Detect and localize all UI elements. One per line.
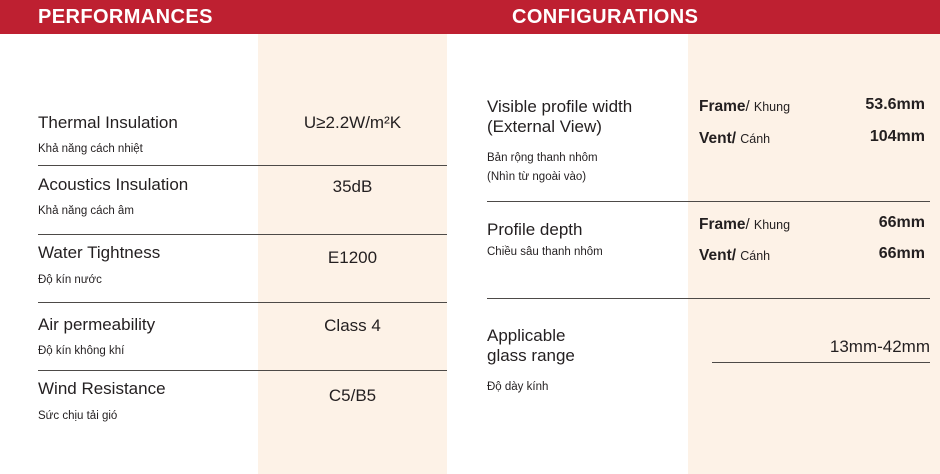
glass-range-value: 13mm-42mm bbox=[710, 337, 930, 357]
spec-sheet: PERFORMANCES CONFIGURATIONS Thermal Insu… bbox=[0, 0, 940, 474]
row-divider bbox=[487, 201, 930, 202]
row-value: Class 4 bbox=[258, 316, 447, 336]
spec-vent: Vent/ Cánh bbox=[699, 247, 770, 265]
row-label-vi-line1: Bản rộng thanh nhôm bbox=[487, 151, 598, 166]
row-label-vi: Độ kín nước bbox=[38, 273, 102, 288]
row-divider bbox=[38, 370, 447, 371]
row-label-en-line1: Visible profile width bbox=[487, 97, 632, 117]
row-label-en-line2: glass range bbox=[487, 346, 575, 366]
spec-value: 104mm bbox=[780, 128, 925, 146]
row-label-vi-line2: (Nhìn từ ngoài vào) bbox=[487, 170, 586, 185]
row-value: E1200 bbox=[258, 248, 447, 268]
row-divider bbox=[487, 298, 930, 299]
row-label-en: Wind Resistance bbox=[38, 379, 166, 399]
spec-term: Frame bbox=[699, 98, 746, 115]
row-label-en: Air permeability bbox=[38, 315, 155, 335]
configurations-panel: Visible profile width (External View) Bả… bbox=[470, 34, 940, 474]
spec-frame: Frame/ Khung bbox=[699, 98, 790, 116]
spec-term: Vent/ bbox=[699, 130, 736, 147]
spec-frame: Frame/ Khung bbox=[699, 216, 790, 234]
spec-term-vi: Cánh bbox=[740, 132, 770, 146]
row-divider bbox=[38, 234, 447, 235]
spec-vent: Vent/ Cánh bbox=[699, 130, 770, 148]
row-label-vi-line1: Chiều sâu thanh nhôm bbox=[487, 245, 603, 260]
row-value: U≥2.2W/m²K bbox=[258, 113, 447, 133]
glass-range-underline bbox=[712, 362, 930, 363]
row-value: C5/B5 bbox=[258, 386, 447, 406]
spec-value: 66mm bbox=[780, 214, 925, 232]
spec-value: 53.6mm bbox=[780, 96, 925, 114]
row-label-vi: Khả năng cách nhiệt bbox=[38, 142, 143, 157]
row-label-en-line1: Profile depth bbox=[487, 220, 582, 240]
spec-term: Frame bbox=[699, 216, 746, 233]
spec-separator: / bbox=[746, 216, 754, 233]
row-label-en: Thermal Insulation bbox=[38, 113, 178, 133]
spec-separator: / bbox=[746, 98, 754, 115]
row-label-vi: Độ kín không khí bbox=[38, 344, 124, 359]
row-divider bbox=[38, 165, 447, 166]
row-label-vi: Sức chịu tải gió bbox=[38, 409, 117, 424]
spec-value: 66mm bbox=[780, 245, 925, 263]
row-label-vi: Khả năng cách âm bbox=[38, 204, 134, 219]
spec-term-vi: Cánh bbox=[740, 249, 770, 263]
row-divider bbox=[38, 302, 447, 303]
row-label-en-line1: Applicable bbox=[487, 326, 565, 346]
row-label-en: Water Tightness bbox=[38, 243, 160, 263]
spec-term: Vent/ bbox=[699, 247, 736, 264]
row-label-en-line2: (External View) bbox=[487, 117, 602, 137]
row-label-en: Acoustics Insulation bbox=[38, 175, 188, 195]
performances-panel: Thermal Insulation Khả năng cách nhiệt U… bbox=[0, 34, 470, 474]
page-title-performances: PERFORMANCES bbox=[38, 6, 213, 29]
row-label-vi-line1: Độ dày kính bbox=[487, 380, 548, 395]
row-value: 35dB bbox=[258, 177, 447, 197]
page-title-configurations: CONFIGURATIONS bbox=[512, 6, 698, 29]
